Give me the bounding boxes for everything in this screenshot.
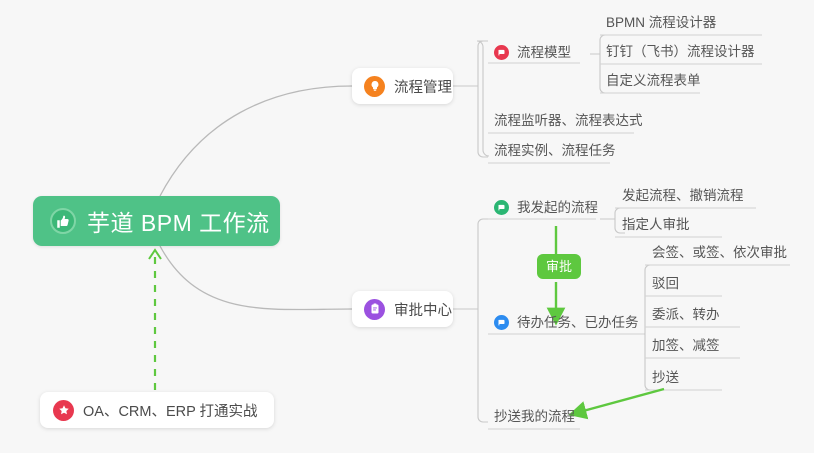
leaf-process-instance[interactable]: 流程实例、流程任务 bbox=[494, 142, 616, 164]
node-process-model[interactable]: 流程模型 bbox=[494, 44, 571, 66]
callout-oa-crm-erp[interactable]: OA、CRM、ERP 打通实战 bbox=[40, 392, 274, 428]
node-todo-done-tasks[interactable]: 待办任务、已办任务 bbox=[494, 314, 639, 336]
flag-icon bbox=[494, 200, 509, 215]
leaf-label-start-cancel-process: 发起流程、撤销流程 bbox=[622, 187, 744, 204]
edge-approval-bracket bbox=[470, 219, 488, 422]
lightbulb-icon bbox=[364, 76, 385, 97]
thumbs-up-icon bbox=[50, 208, 76, 234]
leaf-custom-form[interactable]: 自定义流程表单 bbox=[606, 72, 701, 94]
approval-arrow-badge-label: 审批 bbox=[546, 259, 572, 274]
arrow-cc-to-ccme bbox=[572, 389, 664, 414]
leaf-add-remove-sign[interactable]: 加签、减签 bbox=[652, 337, 720, 359]
flag-icon bbox=[494, 45, 509, 60]
flag-icon bbox=[494, 315, 509, 330]
leaf-label-custom-form: 自定义流程表单 bbox=[606, 72, 701, 89]
leaf-label-process-instance: 流程实例、流程任务 bbox=[494, 142, 616, 159]
leaf-process-listener[interactable]: 流程监听器、流程表达式 bbox=[494, 112, 643, 134]
leaf-label-delegate-transfer: 委派、转办 bbox=[652, 306, 720, 323]
clipboard-icon bbox=[364, 299, 385, 320]
edge-process-bracket bbox=[470, 41, 488, 157]
node-label-my-started-process: 我发起的流程 bbox=[517, 199, 598, 216]
leaf-label-process-listener: 流程监听器、流程表达式 bbox=[494, 112, 643, 129]
leaf-assignee-approval[interactable]: 指定人审批 bbox=[622, 216, 690, 238]
leaf-bpmn-designer[interactable]: BPMN 流程设计器 bbox=[606, 14, 716, 36]
branch-node-process-management[interactable]: 流程管理 bbox=[352, 68, 453, 104]
branch-node-approval-center[interactable]: 审批中心 bbox=[352, 291, 453, 327]
leaf-label-countersign: 会签、或签、依次审批 bbox=[652, 244, 787, 261]
leaf-reject[interactable]: 驳回 bbox=[652, 275, 679, 297]
leaf-cc-to-me-process[interactable]: 抄送我的流程 bbox=[494, 408, 575, 430]
leaf-dingtalk-designer[interactable]: 钉钉（飞书）流程设计器 bbox=[606, 43, 755, 65]
edge-process-vertical bbox=[477, 41, 489, 156]
approval-arrow-badge: 审批 bbox=[537, 254, 581, 279]
callout-label-oa-crm-erp: OA、CRM、ERP 打通实战 bbox=[83, 400, 258, 421]
root-node[interactable]: 芋道 BPM 工作流 bbox=[33, 196, 280, 246]
leaf-delegate-transfer[interactable]: 委派、转办 bbox=[652, 306, 720, 328]
leaf-label-assignee-approval: 指定人审批 bbox=[622, 216, 690, 233]
star-icon bbox=[53, 400, 74, 421]
node-my-started-process[interactable]: 我发起的流程 bbox=[494, 199, 598, 221]
edge-root-to-process bbox=[160, 86, 352, 196]
leaf-start-cancel-process[interactable]: 发起流程、撤销流程 bbox=[622, 187, 744, 209]
mindmap-canvas: 芋道 BPM 工作流 流程管理 审批中心 bbox=[0, 0, 814, 453]
branch-label-process-management: 流程管理 bbox=[394, 76, 452, 97]
leaf-label-cc: 抄送 bbox=[652, 369, 679, 386]
leaf-label-add-remove-sign: 加签、减签 bbox=[652, 337, 720, 354]
edge-root-to-approval bbox=[160, 246, 352, 310]
branch-label-approval-center: 审批中心 bbox=[394, 299, 452, 320]
node-label-todo-done-tasks: 待办任务、已办任务 bbox=[517, 314, 639, 331]
leaf-label-reject: 驳回 bbox=[652, 275, 679, 292]
arrow-callout-head bbox=[149, 250, 161, 259]
leaf-cc[interactable]: 抄送 bbox=[652, 369, 679, 391]
leaf-countersign[interactable]: 会签、或签、依次审批 bbox=[652, 244, 787, 266]
root-label: 芋道 BPM 工作流 bbox=[87, 204, 270, 238]
leaf-label-bpmn-designer: BPMN 流程设计器 bbox=[606, 14, 716, 31]
leaf-label-dingtalk-designer: 钉钉（飞书）流程设计器 bbox=[606, 43, 755, 60]
node-label-process-model: 流程模型 bbox=[517, 44, 571, 61]
leaf-label-cc-to-me-process: 抄送我的流程 bbox=[494, 408, 575, 425]
